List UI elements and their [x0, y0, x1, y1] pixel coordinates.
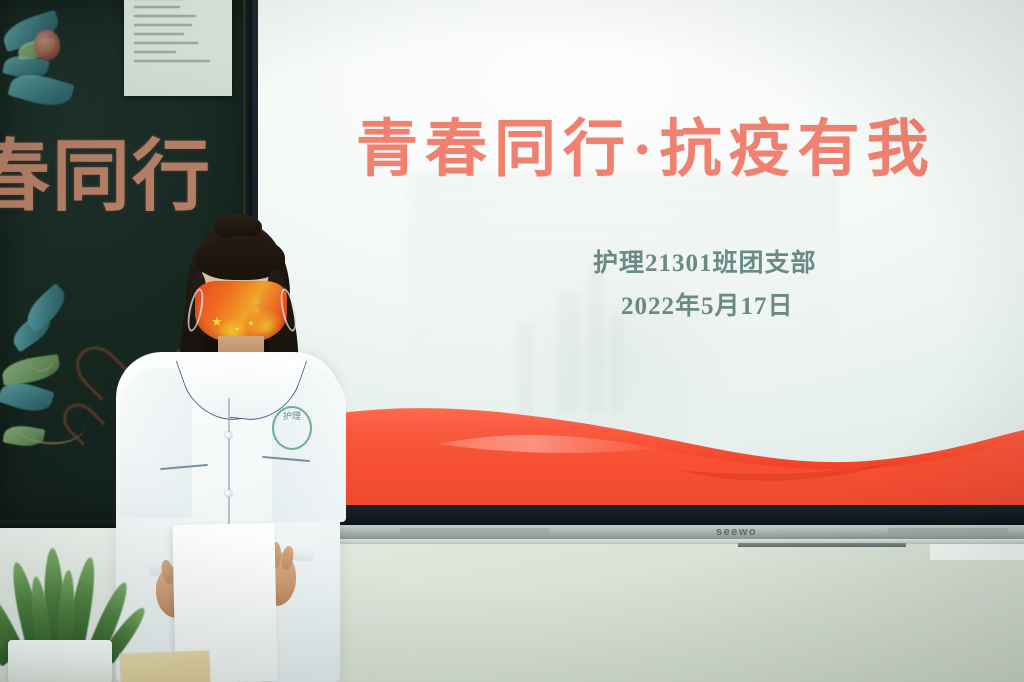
coat-button-2 [225, 490, 232, 497]
display-speaker-vent-left [400, 528, 550, 535]
slide-subtitle-date: 2022年5月17日 [621, 286, 794, 322]
display-trim-lip [250, 539, 1024, 544]
slide-title: 青春同行·抗疫有我 [356, 98, 936, 188]
blackboard-chalk-title: 春同行 [0, 114, 212, 226]
chalk-flower-bud-1 [34, 30, 60, 60]
slide-red-ribbon [258, 378, 1024, 508]
mask-star-icon: ★ [211, 315, 223, 328]
face-mask: ★ ★ ★ [195, 281, 287, 343]
display-brand-logo: seewo [716, 526, 757, 538]
coat-button-1 [225, 432, 232, 439]
classroom-photo-scene: 青春同行·抗疫有我 护理21301班团支部 2022年5月17日 [0, 0, 1024, 682]
interactive-display-screen[interactable]: 青春同行·抗疫有我 护理21301班团支部 2022年5月17日 [258, 0, 1024, 508]
display-speaker-vent-right [888, 528, 1008, 535]
plant-pot [8, 640, 112, 682]
chalk-stem-2 [26, 330, 56, 372]
mask-star-small-icon-1: ★ [233, 325, 241, 334]
mask-text: 中国 [252, 299, 260, 316]
coat-sleeve-left [120, 368, 192, 518]
slide-subtitle-organization: 护理21301班团支部 [593, 243, 817, 279]
mask-star-small-icon-2: ★ [247, 319, 255, 328]
display-pen-tray [738, 543, 906, 547]
uniform-emblem: 护理 [272, 406, 312, 450]
desk-paper [119, 650, 210, 682]
blackboard-posted-paper [124, 0, 232, 96]
display-lower-bezel [252, 505, 1024, 527]
